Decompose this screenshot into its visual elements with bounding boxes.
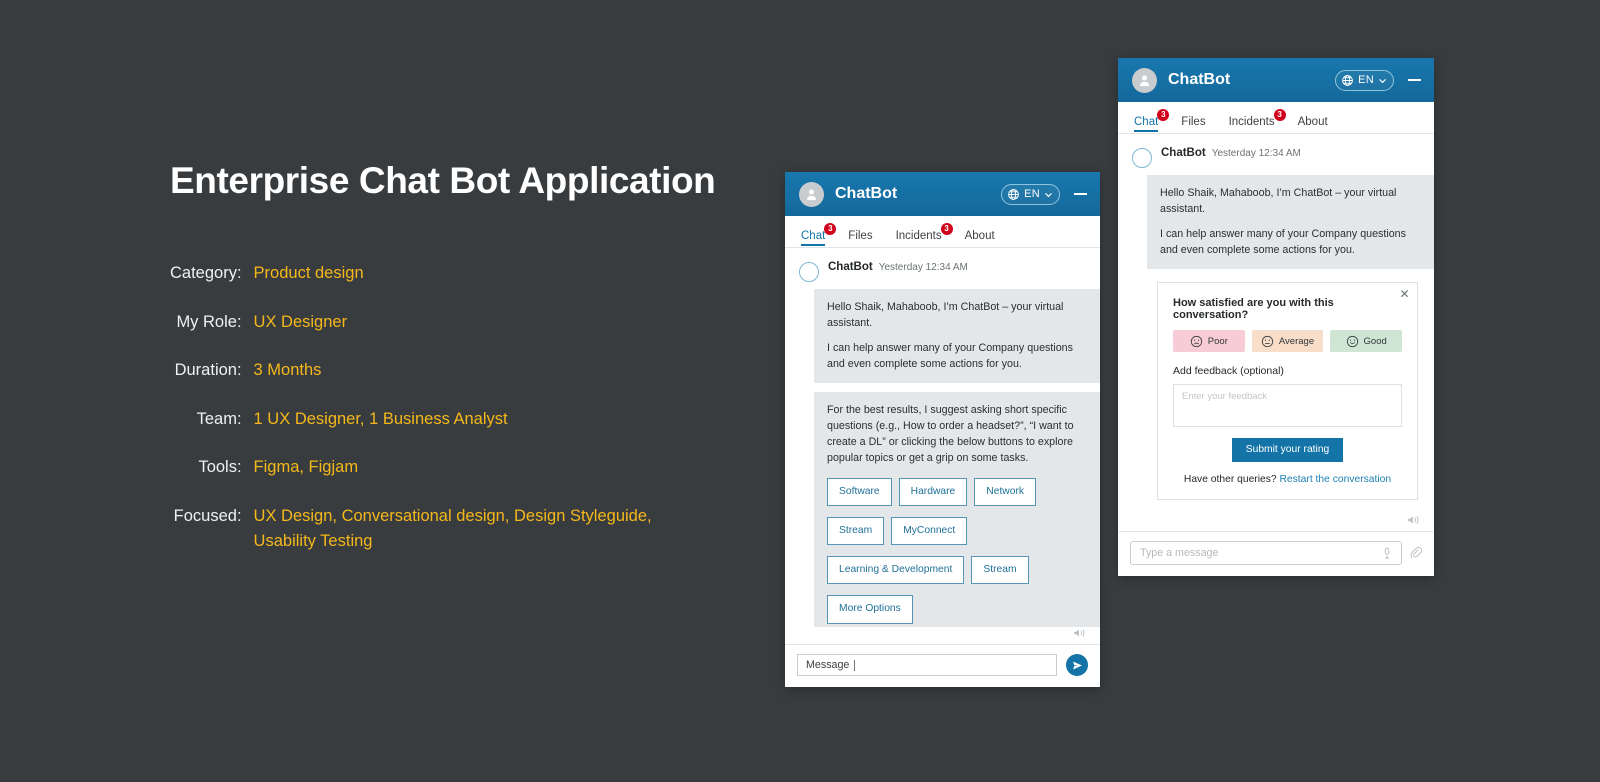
minimize-icon[interactable] xyxy=(1408,79,1421,81)
page-title: Enterprise Chat Bot Application xyxy=(170,160,730,202)
window2-composer: Type a message xyxy=(1118,531,1434,576)
suggestion-chip-network[interactable]: Network xyxy=(974,478,1036,506)
message-input-value: Message xyxy=(806,659,849,671)
bot-message-bubble-greeting: Hello Shaik, Mahaboob, I’m ChatBot – you… xyxy=(814,289,1100,383)
survey-question: How satisfied are you with this conversa… xyxy=(1173,297,1402,321)
status-badge: 3 xyxy=(941,223,953,235)
restart-conversation-link[interactable]: Restart the conversation xyxy=(1280,474,1392,485)
frowning-face-icon xyxy=(1190,335,1203,348)
bubble-paragraph: Hello Shaik, Mahaboob, I’m ChatBot – you… xyxy=(1160,186,1421,218)
other-queries-text: Have other queries? xyxy=(1184,474,1277,485)
bubble-paragraph: I can help answer many of your Company q… xyxy=(1160,227,1421,259)
suggestion-chip-hardware[interactable]: Hardware xyxy=(899,478,968,506)
table-row: My Role: UX Designer xyxy=(170,310,694,359)
rating-option-poor-label: Poor xyxy=(1208,336,1228,347)
table-row: Tools: Figma, Figjam xyxy=(170,455,694,504)
tab-files-label: Files xyxy=(1181,116,1205,128)
rating-option-average[interactable]: Average xyxy=(1252,330,1324,352)
language-selector[interactable]: EN xyxy=(1335,70,1394,91)
bubble-paragraph: Hello Shaik, Mahaboob, I’m ChatBot – you… xyxy=(827,300,1087,332)
neutral-face-icon xyxy=(1261,335,1274,348)
bot-message-bubble-greeting: Hello Shaik, Mahaboob, I’m ChatBot – you… xyxy=(1147,175,1434,269)
speaker-mute-icon[interactable] xyxy=(1407,514,1420,526)
chatbot-window-suggestions: ChatBot EN Chat 3 Files xyxy=(785,172,1100,687)
chatbot-window-survey: ChatBot EN Chat 3 Files xyxy=(1118,58,1434,576)
status-badge: 3 xyxy=(1274,109,1286,121)
suggestion-chip-software[interactable]: Software xyxy=(827,478,892,506)
tab-chat-label: Chat xyxy=(801,230,825,246)
window1-header: ChatBot EN xyxy=(785,172,1100,216)
message-timestamp: Yesterday 12:34 AM xyxy=(1212,148,1301,159)
language-selector[interactable]: EN xyxy=(1001,184,1060,205)
project-info-panel: Enterprise Chat Bot Application Category… xyxy=(170,160,730,555)
window1-title: ChatBot xyxy=(835,185,1001,203)
globe-icon xyxy=(1007,188,1020,201)
meta-value-duration: 3 Months xyxy=(254,358,694,407)
minimize-icon[interactable] xyxy=(1074,193,1087,195)
table-row: Category: Product design xyxy=(170,261,694,310)
table-row: Focused: UX Design, Conversational desig… xyxy=(170,504,694,555)
user-avatar-icon xyxy=(799,182,824,207)
tab-chat[interactable]: Chat 3 xyxy=(1134,116,1158,133)
window2-title: ChatBot xyxy=(1168,71,1335,89)
suggestion-chip-myconnect[interactable]: MyConnect xyxy=(891,517,967,545)
tab-incidents-label: Incidents xyxy=(896,230,942,242)
message-input-placeholder: Type a message xyxy=(1140,547,1382,559)
meta-label-focused: Focused: xyxy=(170,504,254,555)
meta-label-category: Category: xyxy=(170,261,254,310)
microphone-icon[interactable] xyxy=(1382,547,1392,560)
feedback-label: Add feedback (optional) xyxy=(1173,365,1402,377)
suggestion-chip-row-4: More Options xyxy=(827,595,1087,623)
submit-row: Submit your rating xyxy=(1173,438,1402,462)
window2-header: ChatBot EN xyxy=(1118,58,1434,102)
send-button[interactable] xyxy=(1066,654,1088,676)
message-sender: ChatBot xyxy=(828,261,873,273)
tab-chat-label: Chat xyxy=(1134,116,1158,132)
chevron-down-icon xyxy=(1378,76,1387,85)
rating-option-good-label: Good xyxy=(1364,336,1387,347)
status-badge: 3 xyxy=(824,223,836,235)
screenshot-stage: Enterprise Chat Bot Application Category… xyxy=(0,0,1600,782)
rating-option-average-label: Average xyxy=(1279,336,1314,347)
rating-options-row: Poor Average xyxy=(1173,330,1402,352)
window2-message-list[interactable]: ChatBot Yesterday 12:34 AM Hello Shaik, … xyxy=(1118,134,1434,514)
suggestion-chip-row-2: Stream MyConnect xyxy=(827,517,1087,545)
meta-value-category: Product design xyxy=(254,261,694,310)
message-sender: ChatBot xyxy=(1161,147,1206,159)
message-timestamp: Yesterday 12:34 AM xyxy=(879,262,968,273)
tab-chat[interactable]: Chat 3 xyxy=(801,230,825,247)
tab-files-label: Files xyxy=(848,230,872,242)
tab-incidents[interactable]: Incidents 3 xyxy=(1229,116,1275,133)
project-meta-table: Category: Product design My Role: UX Des… xyxy=(170,261,694,555)
window1-message-list[interactable]: ChatBot Yesterday 12:34 AM Hello Shaik, … xyxy=(785,248,1100,627)
bot-message-bubble-suggestions: For the best results, I suggest asking s… xyxy=(814,392,1100,627)
satisfaction-survey-card: ✕ How satisfied are you with this conver… xyxy=(1157,282,1418,500)
window2-speaker-row xyxy=(1118,514,1434,531)
speaker-mute-icon[interactable] xyxy=(1073,627,1086,639)
status-badge: 3 xyxy=(1157,109,1169,121)
tab-incidents[interactable]: Incidents 3 xyxy=(896,230,942,247)
window2-tab-bar: Chat 3 Files Incidents 3 About xyxy=(1118,102,1434,134)
avatar xyxy=(1132,148,1152,168)
rating-option-poor[interactable]: Poor xyxy=(1173,330,1245,352)
suggestion-chip-more-options[interactable]: More Options xyxy=(827,595,913,623)
tab-about[interactable]: About xyxy=(1298,116,1328,133)
user-avatar-icon xyxy=(1132,68,1157,93)
meta-value-team: 1 UX Designer, 1 Business Analyst xyxy=(254,407,694,456)
tab-files[interactable]: Files xyxy=(848,230,872,247)
window1-speaker-row xyxy=(785,627,1100,644)
suggestion-chip-row-1: Software Hardware Network xyxy=(827,478,1087,506)
submit-rating-button[interactable]: Submit your rating xyxy=(1232,438,1344,462)
close-icon[interactable]: ✕ xyxy=(1398,288,1411,301)
bubble-paragraph: I can help answer many of your Company q… xyxy=(827,341,1087,373)
tab-files[interactable]: Files xyxy=(1181,116,1205,133)
rating-option-good[interactable]: Good xyxy=(1330,330,1402,352)
meta-label-team: Team: xyxy=(170,407,254,456)
message-meta: ChatBot Yesterday 12:34 AM xyxy=(828,261,1088,273)
bubble-paragraph: For the best results, I suggest asking s… xyxy=(827,403,1087,466)
feedback-textarea[interactable]: Enter your feedback xyxy=(1173,384,1402,427)
smiling-face-icon xyxy=(1346,335,1359,348)
meta-value-focused: UX Design, Conversational design, Design… xyxy=(254,504,694,555)
message-input[interactable]: Message xyxy=(797,654,1057,676)
suggestion-chip-learning-development[interactable]: Learning & Development xyxy=(827,556,964,584)
table-row: Team: 1 UX Designer, 1 Business Analyst xyxy=(170,407,694,456)
message-meta: ChatBot Yesterday 12:34 AM xyxy=(1161,147,1422,159)
language-code: EN xyxy=(1358,74,1374,86)
globe-icon xyxy=(1341,74,1354,87)
list-item: ChatBot Yesterday 12:34 AM xyxy=(785,248,1100,282)
suggestion-chip-stream-2[interactable]: Stream xyxy=(971,556,1028,584)
meta-label-my-role: My Role: xyxy=(170,310,254,359)
list-item: ChatBot Yesterday 12:34 AM xyxy=(1118,134,1434,168)
meta-value-tools: Figma, Figjam xyxy=(254,455,694,504)
tab-about-label: About xyxy=(1298,116,1328,128)
meta-label-duration: Duration: xyxy=(170,358,254,407)
table-row: Duration: 3 Months xyxy=(170,358,694,407)
tab-incidents-label: Incidents xyxy=(1229,116,1275,128)
send-icon xyxy=(1072,660,1083,671)
avatar xyxy=(799,262,819,282)
tab-about-label: About xyxy=(965,230,995,242)
paperclip-icon[interactable] xyxy=(1410,546,1422,560)
suggestion-chip-stream[interactable]: Stream xyxy=(827,517,884,545)
message-input[interactable]: Type a message xyxy=(1130,541,1402,565)
window1-tab-bar: Chat 3 Files Incidents 3 About xyxy=(785,216,1100,248)
chevron-down-icon xyxy=(1044,190,1053,199)
text-caret xyxy=(854,660,855,671)
restart-conversation-row: Have other queries? Restart the conversa… xyxy=(1173,474,1402,485)
window1-composer: Message xyxy=(785,644,1100,687)
meta-value-my-role: UX Designer xyxy=(254,310,694,359)
language-code: EN xyxy=(1024,188,1040,200)
tab-about[interactable]: About xyxy=(965,230,995,247)
meta-label-tools: Tools: xyxy=(170,455,254,504)
suggestion-chip-row-3: Learning & Development Stream xyxy=(827,556,1087,584)
